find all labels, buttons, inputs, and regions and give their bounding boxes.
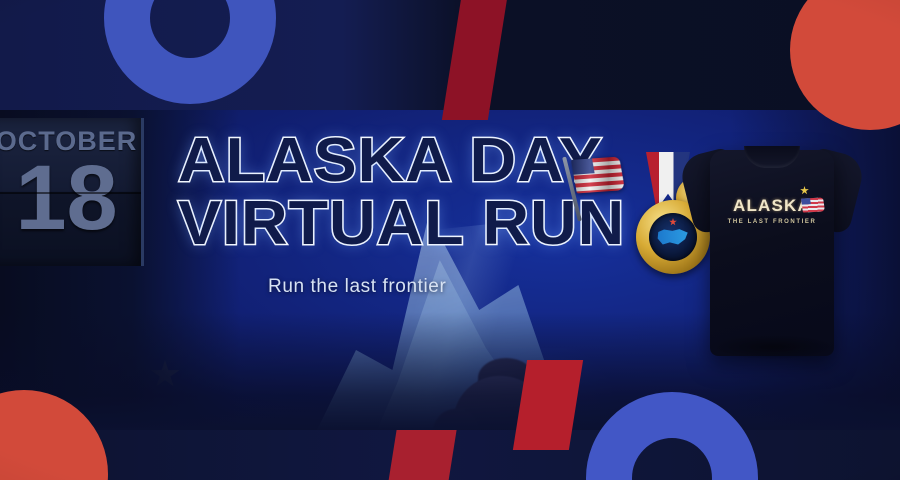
title-line-two: VIRTUAL RUN [178, 195, 615, 252]
alaska-day-virtual-run-banner: OCTOBER 18 ALASKA DAY VIRTUAL RUN Run th… [0, 0, 900, 480]
flag-wave-shading [571, 157, 625, 194]
flag-cloth [571, 157, 625, 194]
star-icon [669, 218, 677, 226]
diagonal-stripe-bottom [387, 430, 456, 480]
shirt-print-subtitle: THE LAST FRONTIER [722, 219, 822, 225]
title-line-one: ALASKA DAY [178, 132, 615, 189]
flag-canton [801, 198, 811, 204]
date-calendar: OCTOBER 18 [0, 118, 144, 266]
event-title: ALASKA DAY VIRTUAL RUN [178, 132, 598, 252]
us-flag-icon [801, 197, 825, 212]
us-map-icon [657, 228, 689, 246]
event-tagline: Run the last frontier [268, 276, 446, 298]
calendar-day: 18 [0, 152, 141, 244]
shirt-print: ALASKA THE LAST FRONTIER [722, 196, 822, 240]
us-flag-icon [566, 148, 628, 226]
shirt-body [710, 150, 834, 356]
shirt-shadow [708, 334, 838, 360]
t-shirt-icon: ALASKA THE LAST FRONTIER [688, 136, 856, 358]
